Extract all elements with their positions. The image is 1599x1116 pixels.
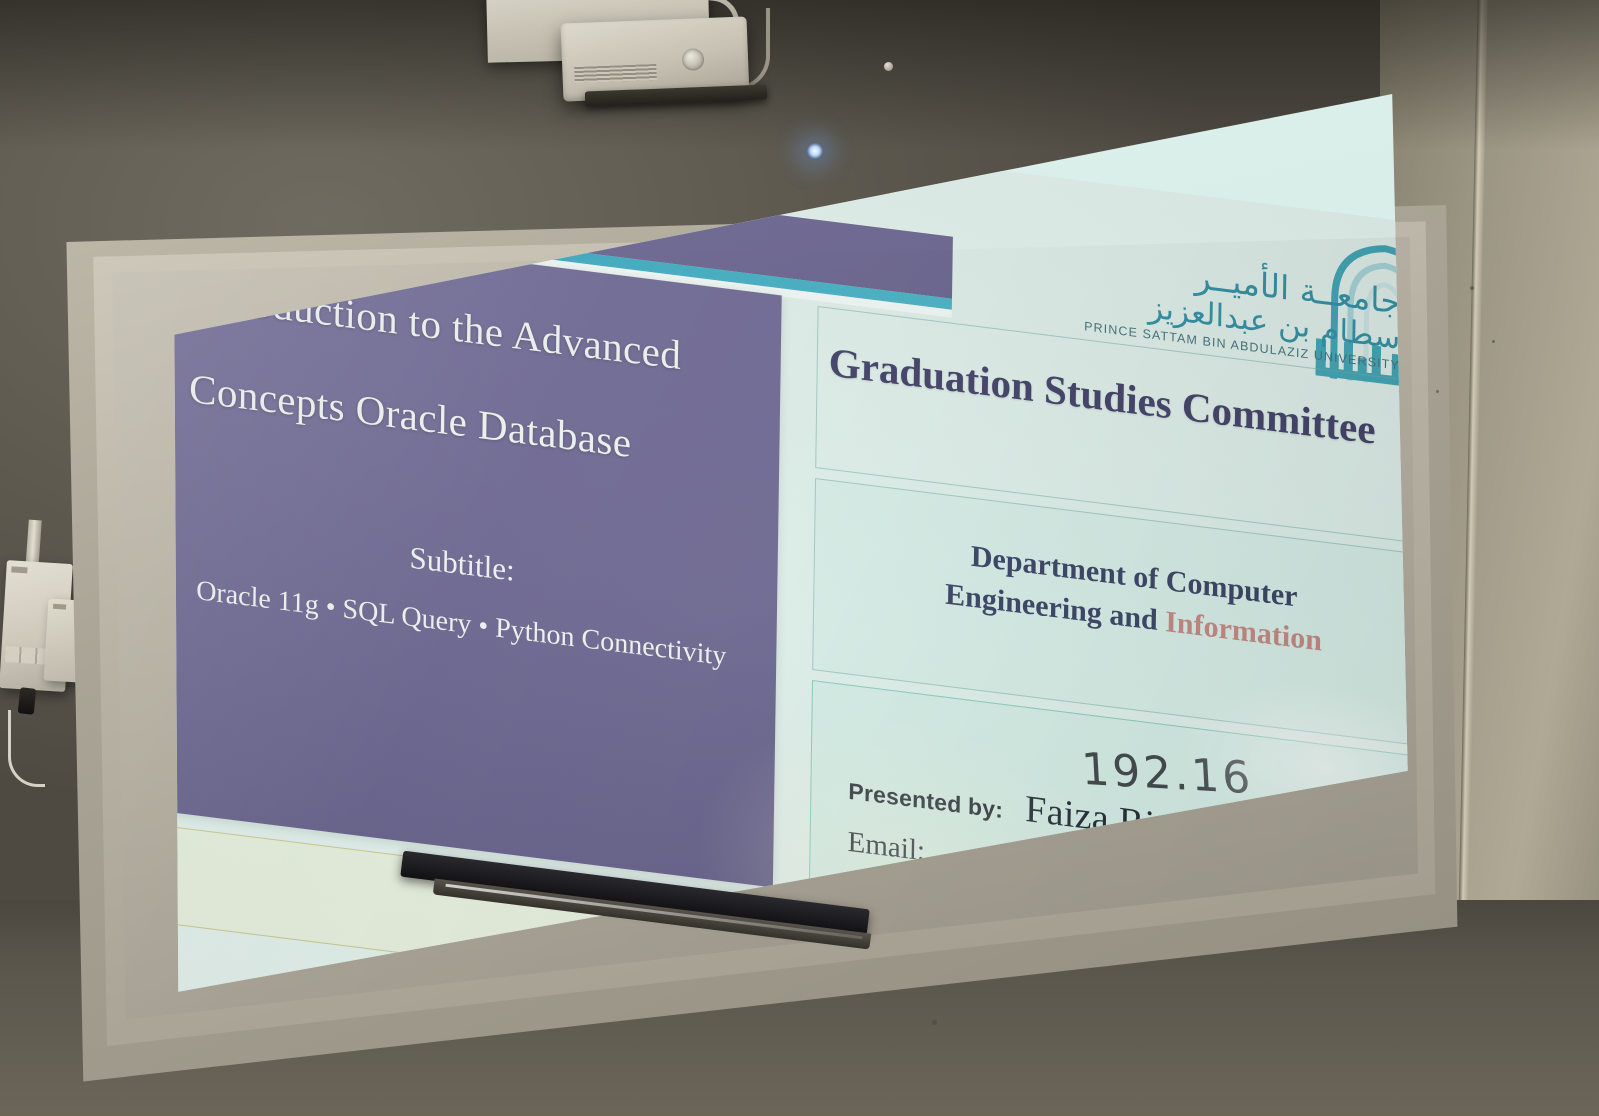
ceiling-shadow [0, 0, 1599, 150]
wall-speck [1492, 340, 1495, 343]
control-box-label-secondary [53, 604, 66, 610]
classroom-scene: جامعــة الأميــر سطام بن عبدالعزيز PRINC… [0, 0, 1599, 1116]
hanging-wire [8, 710, 45, 787]
ceiling-screw [884, 62, 893, 71]
wall-speck [1470, 286, 1474, 290]
projector-vent [574, 64, 657, 83]
projector-lens-icon [682, 48, 705, 71]
wall-speck [932, 1020, 937, 1025]
control-box-label [11, 566, 27, 573]
wall-speck [1436, 390, 1439, 393]
blue-led-indicator [806, 142, 824, 160]
